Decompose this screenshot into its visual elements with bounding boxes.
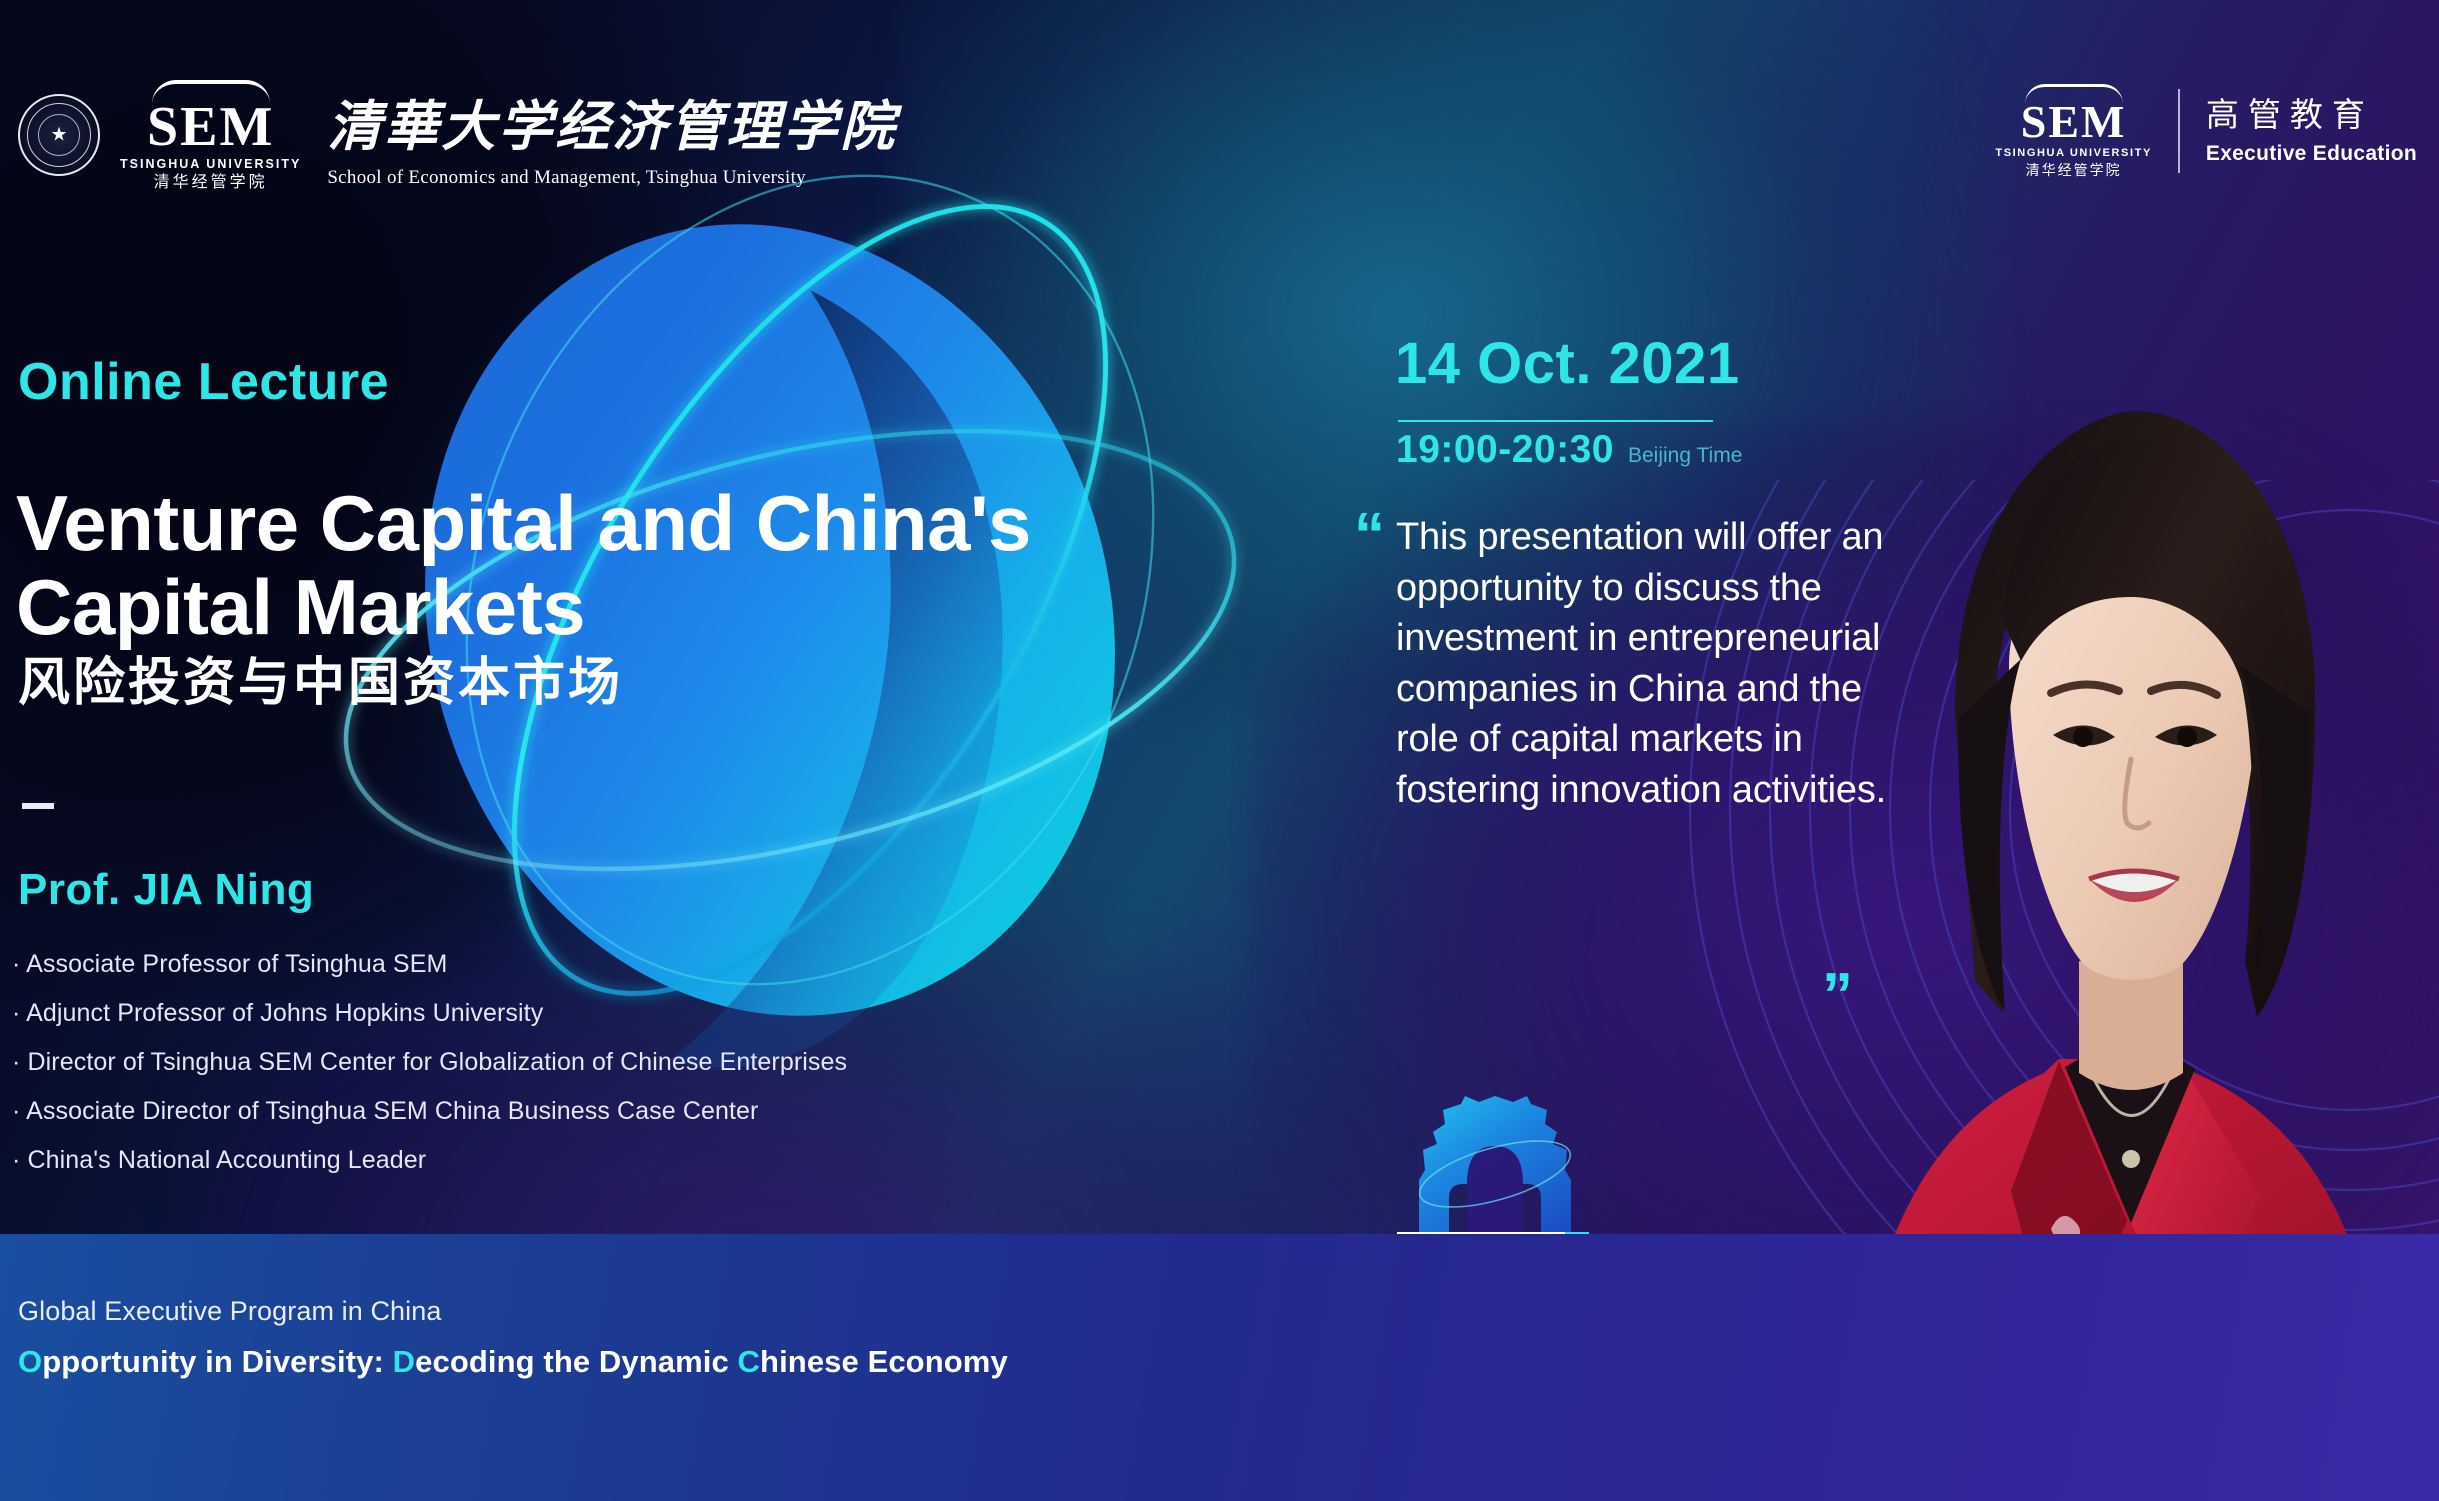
bottom-banner: Global Executive Program in China Opport… [0,1234,2439,1501]
program-title: Opportunity in Diversity: Decoding the D… [18,1344,1008,1380]
program-title-highlight: O [18,1344,42,1379]
program-title-highlight: C [738,1344,761,1379]
event-time: 19:00-20:30 [1396,428,1614,472]
speaker-name: Prof. JIA Ning [18,865,314,915]
quote-open-icon: “ [1354,505,1385,567]
program-title-highlight: D [393,1344,416,1379]
date-divider [1398,420,1713,422]
page-title-chinese: 风险投资与中国资本市场 [18,640,623,715]
tsinghua-seal-icon: ★ [18,94,100,176]
speaker-bio-list: Associate Professor of Tsinghua SEM Adju… [12,950,1132,1175]
event-time-row: 19:00-20:30 Beijing Time [1396,428,1742,472]
event-timezone: Beijing Time [1628,444,1742,468]
sem-logotype-right: SEM TSINGHUA UNIVERSITY 清华经管学院 [1995,84,2152,177]
sem-university-label: TSINGHUA UNIVERSITY [120,158,301,171]
tsinghua-sem-logo: ★ SEM TSINGHUA UNIVERSITY 清华经管学院 清華大学经济管… [18,80,897,191]
sem-university-label: TSINGHUA UNIVERSITY [1995,148,2152,159]
list-item: China's National Accounting Leader [12,1146,1132,1175]
program-subtitle: Global Executive Program in China [18,1296,442,1327]
star-icon: ★ [50,126,67,145]
logo-divider [2178,89,2180,173]
page-title: Venture Capital and China's Capital Mark… [16,482,1076,649]
program-title-segment: hinese Economy [760,1344,1008,1379]
exec-education-cn: 高管教育 [2206,98,2417,131]
sem-chinese-label: 清华经管学院 [154,175,268,191]
list-item: Adjunct Professor of Johns Hopkins Unive… [12,999,1132,1028]
school-name-cn: 清華大学经济管理学院 [327,82,897,161]
sem-logotype: SEM TSINGHUA UNIVERSITY 清华经管学院 [120,80,301,191]
sem-wordmark: SEM [147,99,274,155]
speaker-bio: Associate Professor of Tsinghua SEM Adju… [12,950,1132,1195]
school-name-en: School of Economics and Management, Tsin… [327,167,897,189]
exec-education-en: Executive Education [2206,143,2417,164]
program-title-segment: pportunity in Diversity: [42,1344,392,1379]
exec-education-block: 高管教育 Executive Education [2206,98,2417,164]
event-date: 14 Oct. 2021 [1395,330,1740,397]
sem-wordmark: SEM [2021,99,2127,145]
list-item: Associate Director of Tsinghua SEM China… [12,1097,1132,1126]
divider-dash [22,803,54,809]
program-title-segment: ecoding the Dynamic [415,1344,737,1379]
list-item: Director of Tsinghua SEM Center for Glob… [12,1048,1132,1077]
lecture-kicker: Online Lecture [18,352,389,412]
executive-education-logo: SEM TSINGHUA UNIVERSITY 清华经管学院 高管教育 Exec… [1995,84,2417,177]
school-chinese-name: 清華大学经济管理学院 School of Economics and Manag… [327,82,897,189]
list-item: Associate Professor of Tsinghua SEM [12,950,1132,979]
sem-chinese-label: 清华经管学院 [2026,163,2122,177]
lecture-poster: ★ SEM TSINGHUA UNIVERSITY 清华经管学院 清華大学经济管… [0,0,2439,1501]
